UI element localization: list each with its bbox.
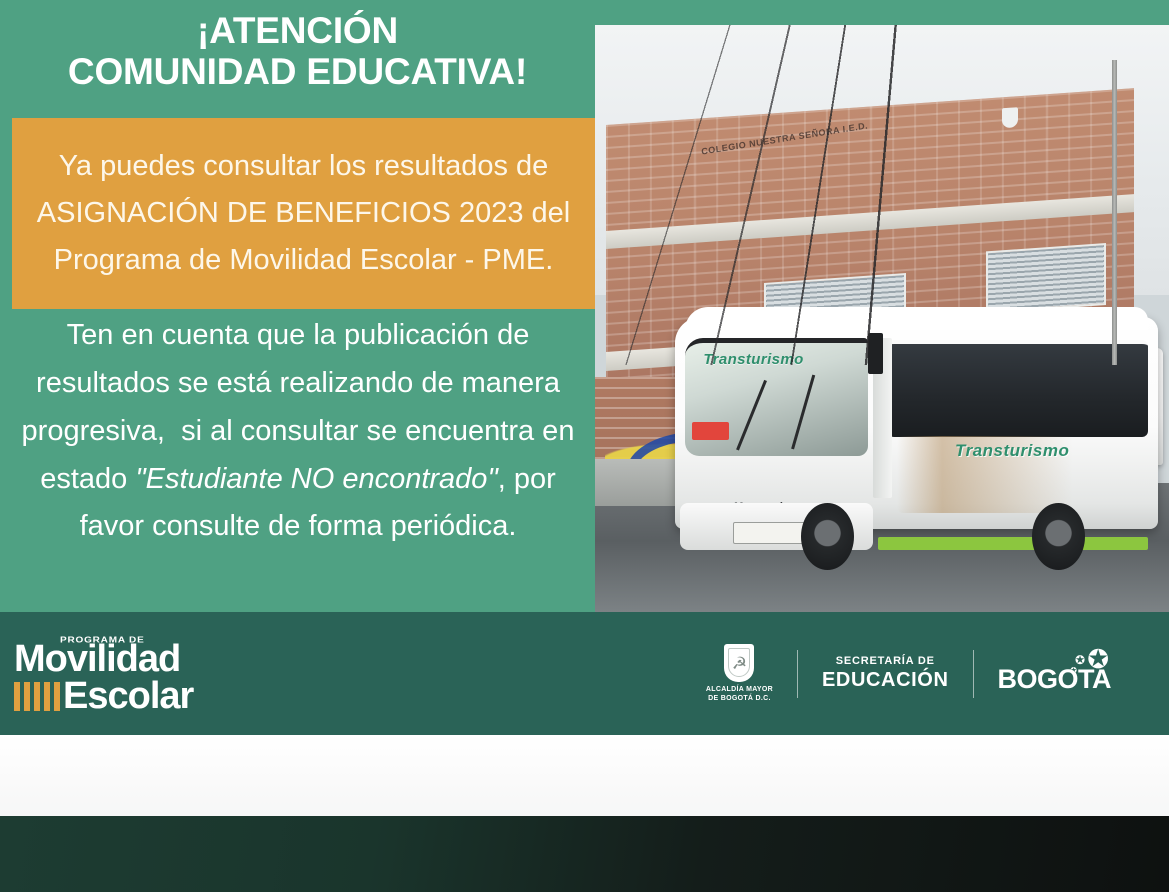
secretaria-line-2: EDUCACIÓN <box>822 669 949 692</box>
callout-text: Ya puedes consultar los resultados de AS… <box>26 143 581 285</box>
pme-bars-icon <box>14 682 60 711</box>
star-icon: ✪ <box>1070 667 1077 675</box>
bus-green-stripe <box>878 537 1148 550</box>
wiper-icon <box>736 379 767 450</box>
foreground-school-bus: Transturismo Transturismo Marcopolo <box>675 307 1157 565</box>
star-icon: ✪ <box>1087 646 1109 672</box>
body-emphasis-status: "Estudiante NO encontrado" <box>135 463 497 495</box>
building-crest-icon <box>1002 107 1018 128</box>
building-window <box>987 243 1107 314</box>
pme-logo-line-2: Escolar <box>63 678 193 714</box>
poster-canvas: COLEGIO NUESTRA SEÑORA I.E.D. Transturis… <box>0 0 1169 612</box>
highlight-callout: Ya puedes consultar los resultados de AS… <box>12 118 595 309</box>
secretaria-educacion-logo: SECRETARÍA DE EDUCACIÓN <box>822 655 949 692</box>
alcaldia-label-line-2: DE BOGOTÁ D.C. <box>706 695 773 704</box>
bus-wheel <box>1032 503 1085 570</box>
alcaldia-label: ALCALDÍA MAYOR DE BOGOTÁ D.C. <box>706 686 773 704</box>
logo-divider <box>797 650 798 698</box>
white-spacer-band <box>0 735 1169 816</box>
building-band-upper <box>606 194 1134 249</box>
eagle-glyph-icon: ☭ <box>732 655 747 672</box>
government-logos: ☭ ALCALDÍA MAYOR DE BOGOTÁ D.C. SECRETAR… <box>706 644 1111 704</box>
secretaria-line-1: SECRETARÍA DE <box>836 655 935 667</box>
page-title-line-2: COMUNIDAD EDUCATIVA! <box>0 51 595 92</box>
alcaldia-label-line-1: ALCALDÍA MAYOR <box>706 686 773 695</box>
utility-pole <box>1112 60 1117 365</box>
body-paragraph: Ten en cuenta que la publicación de resu… <box>8 312 588 551</box>
pme-logo-line-1: Movilidad <box>14 641 193 677</box>
alcaldia-logo: ☭ ALCALDÍA MAYOR DE BOGOTÁ D.C. <box>706 644 773 704</box>
bus-windshield: Transturismo <box>685 338 868 457</box>
star-icon: ✪ <box>1075 654 1085 666</box>
poster-footer: PROGRAMA DE Movilidad Escolar ☭ ALCALDÍA… <box>0 612 1169 735</box>
bus-wheel <box>801 503 854 570</box>
pme-logo-pretitle: PROGRAMA DE <box>60 636 193 645</box>
bus-side-windows <box>888 340 1148 437</box>
dark-gradient-band <box>0 816 1169 892</box>
bus-license-plate <box>733 522 807 545</box>
shield-eagle-icon: ☭ <box>724 644 754 682</box>
windshield-sticker <box>692 422 729 440</box>
page-title: ¡ATENCIÓN COMUNIDAD EDUCATIVA! <box>0 10 595 93</box>
poster-screenshot: COLEGIO NUESTRA SEÑORA I.E.D. Transturis… <box>0 0 1169 892</box>
bus-mirror <box>868 333 882 374</box>
bogota-label-text: BOGOT <box>998 664 1093 694</box>
page-title-line-1: ¡ATENCIÓN <box>0 10 595 51</box>
logo-divider <box>973 650 974 698</box>
building-sign-text: COLEGIO NUESTRA SEÑORA I.E.D. <box>701 120 869 156</box>
pme-logo-row-2: Escolar <box>14 678 193 714</box>
bogota-logo: ✪ ✪ ✪ BOGOTA <box>998 652 1112 695</box>
bus-side-text: Transturismo <box>955 441 1069 461</box>
bus-roof <box>685 307 1148 330</box>
wiper-icon <box>791 375 815 450</box>
pme-logo: PROGRAMA DE Movilidad Escolar <box>14 634 193 715</box>
bus-windshield-text: Transturismo <box>703 351 803 368</box>
bus-photo: COLEGIO NUESTRA SEÑORA I.E.D. Transturis… <box>595 25 1169 612</box>
